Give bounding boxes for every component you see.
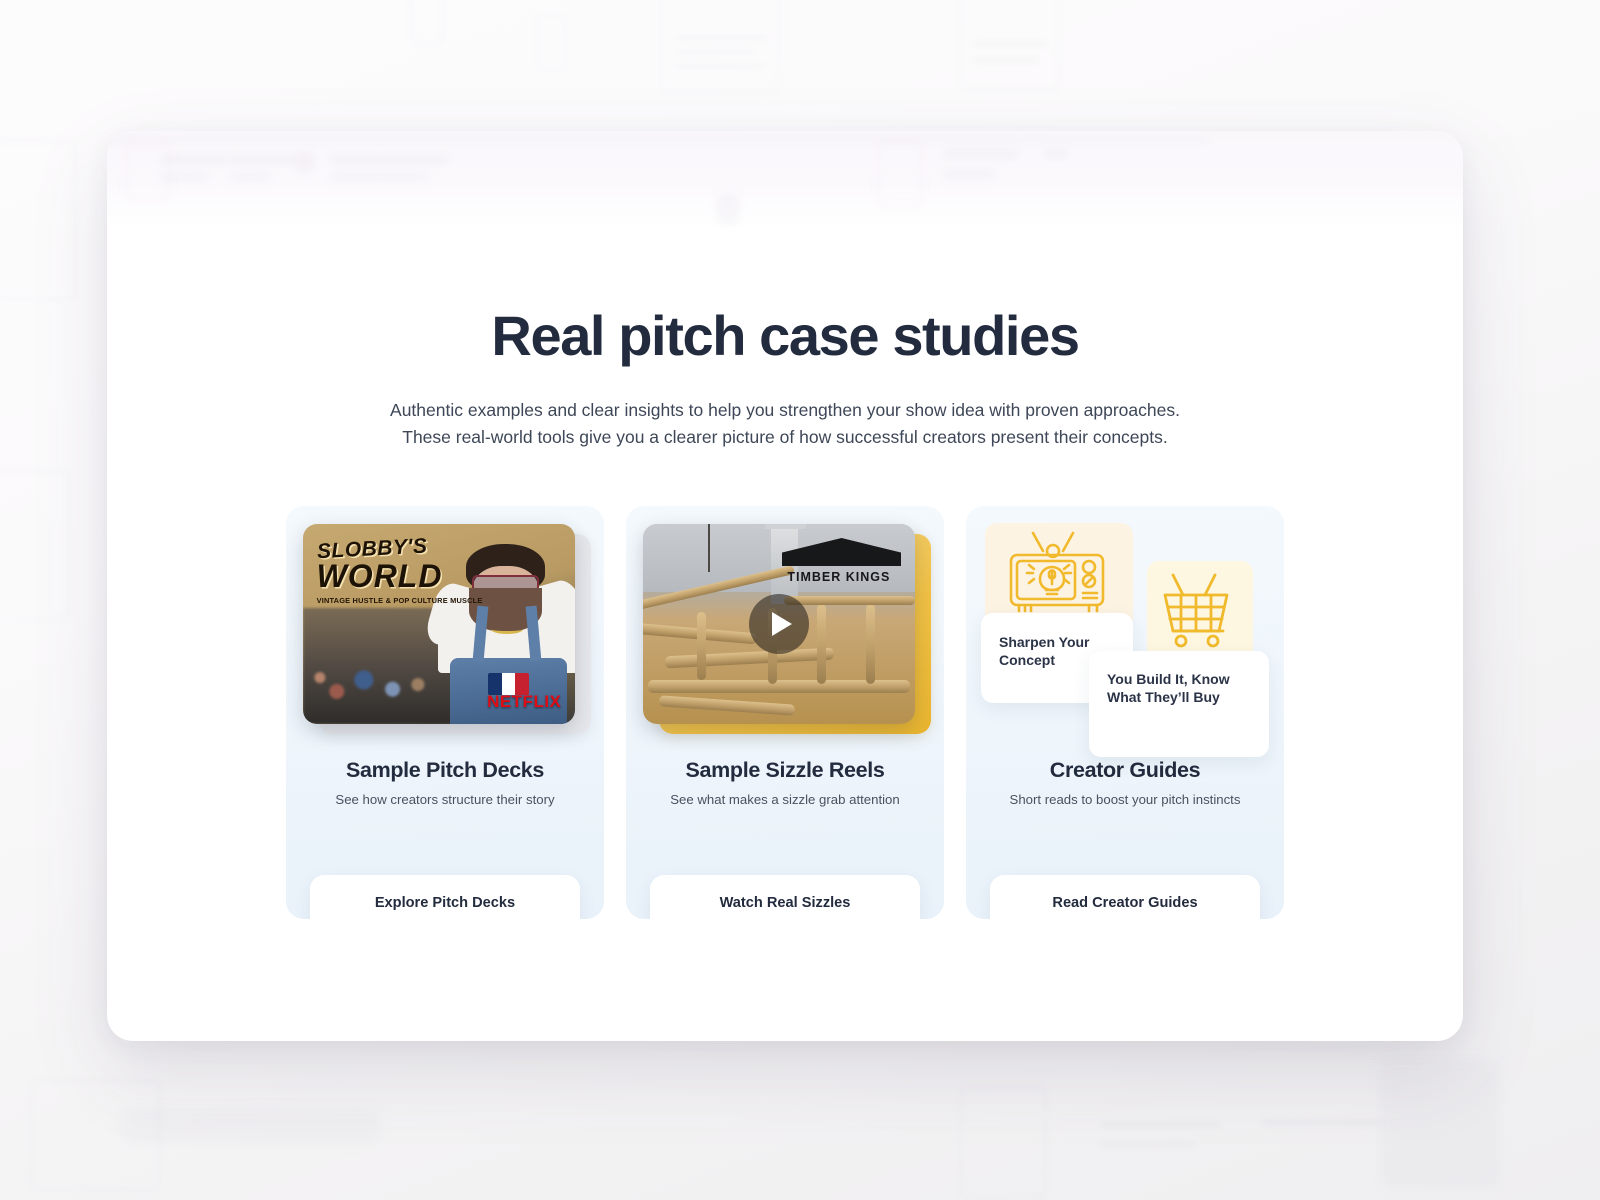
card-media-pitch-decks: SLOBBY'S WORLD VINTAGE HUSTLE & POP CULT… xyxy=(286,506,604,754)
guide-label-1: Sharpen Your Concept xyxy=(999,633,1119,671)
backdrop-ghost-shape xyxy=(676,64,764,68)
case-card-sample-pitch-decks[interactable]: SLOBBY'S WORLD VINTAGE HUSTLE & POP CULT… xyxy=(286,506,604,919)
card-media-sizzle-reels: TIMBER KINGS xyxy=(626,506,944,754)
card-description: See how creators structure their story xyxy=(335,792,554,807)
case-studies-modal: Real pitch case studies Authentic exampl… xyxy=(107,131,1463,1041)
toolbar-ghost-item xyxy=(293,151,315,173)
play-icon[interactable] xyxy=(749,594,809,654)
watch-real-sizzles-button[interactable]: Watch Real Sizzles xyxy=(650,875,920,919)
toolbar-ghost-item xyxy=(1043,149,1069,159)
backdrop-ghost-shape xyxy=(1100,1142,1196,1147)
backdrop-ghost-shape xyxy=(660,0,780,92)
tv-lightbulb-money-icon xyxy=(1003,529,1111,621)
backdrop-ghost-shape xyxy=(972,42,1048,46)
page-subtitle: Authentic examples and clear insights to… xyxy=(167,397,1403,450)
toolbar-ghost-item xyxy=(229,155,295,165)
page-subtitle-line-1: Authentic examples and clear insights to… xyxy=(167,397,1403,424)
card-title: Sample Sizzle Reels xyxy=(686,758,885,783)
backdrop-ghost-shape xyxy=(536,14,566,70)
netflix-logo: NETFLIX xyxy=(487,692,561,712)
toolbar-ghost-item xyxy=(943,169,995,179)
explore-pitch-decks-button[interactable]: Explore Pitch Decks xyxy=(310,875,580,919)
backdrop-ghost-shape xyxy=(676,36,768,40)
pitch-deck-poster: SLOBBY'S WORLD VINTAGE HUSTLE & POP CULT… xyxy=(303,524,575,724)
card-description: Short reads to boost your pitch instinct… xyxy=(1010,792,1241,807)
card-title: Creator Guides xyxy=(1050,758,1200,783)
toolbar-ghost-item xyxy=(229,173,271,181)
toolbar-ghost-item xyxy=(159,173,209,181)
toolbar-ghost-item xyxy=(943,149,1019,159)
page-subtitle-line-2: These real-world tools give you a cleare… xyxy=(167,424,1403,451)
toolbar-ghost-item xyxy=(107,137,1207,142)
card-media-creator-guides: Sharpen Your Concept You Build It, Know … xyxy=(966,506,1284,754)
poster-tagline: VINTAGE HUSTLE & POP CULTURE MUSCLE xyxy=(317,596,502,605)
modal-body: Real pitch case studies Authentic exampl… xyxy=(107,306,1463,919)
case-card-sample-sizzle-reels[interactable]: TIMBER KINGS Sample Sizzle Reels See wha… xyxy=(626,506,944,919)
toolbar-ghost-item xyxy=(715,193,741,227)
timber-kings-title: TIMBER KINGS xyxy=(776,570,901,584)
sizzle-reel-thumbnail[interactable]: TIMBER KINGS xyxy=(643,524,915,724)
backdrop-ghost-shape xyxy=(1380,1058,1500,1188)
poster-title: SLOBBY'S WORLD xyxy=(317,536,480,591)
poster-title-line-1: SLOBBY'S xyxy=(316,532,480,565)
backdrop-ghost-shape xyxy=(0,470,70,620)
backdrop-ghost-shape xyxy=(676,50,756,54)
card-description: See what makes a sizzle grab attention xyxy=(670,792,899,807)
backdrop-ghost-shape xyxy=(1100,1122,1220,1127)
toolbar-ghost-item xyxy=(159,155,229,165)
guide-label-2: You Build It, Know What They’ll Buy xyxy=(1107,670,1259,708)
backdrop-ghost-shape xyxy=(960,1086,1046,1198)
modal-ghost-toolbar xyxy=(107,131,1463,228)
case-card-creator-guides[interactable]: Sharpen Your Concept You Build It, Know … xyxy=(966,506,1284,919)
page-title: Real pitch case studies xyxy=(167,306,1403,365)
card-title: Sample Pitch Decks xyxy=(346,758,544,783)
backdrop-ghost-shape xyxy=(410,0,444,44)
toolbar-ghost-item xyxy=(329,173,429,181)
shopping-cart-icon xyxy=(1157,569,1239,653)
backdrop-ghost-shape xyxy=(120,1108,380,1144)
backdrop-ghost-shape xyxy=(972,58,1038,62)
backdrop-ghost-shape xyxy=(1262,1120,1382,1125)
read-creator-guides-button[interactable]: Read Creator Guides xyxy=(990,875,1260,919)
toolbar-ghost-item xyxy=(125,143,171,201)
toolbar-ghost-item xyxy=(877,141,923,207)
toolbar-ghost-item xyxy=(329,155,449,165)
backdrop-ghost-shape xyxy=(0,140,76,300)
case-study-cards-row: SLOBBY'S WORLD VINTAGE HUSTLE & POP CULT… xyxy=(167,506,1403,919)
poster-title-line-2: WORLD xyxy=(317,561,480,591)
